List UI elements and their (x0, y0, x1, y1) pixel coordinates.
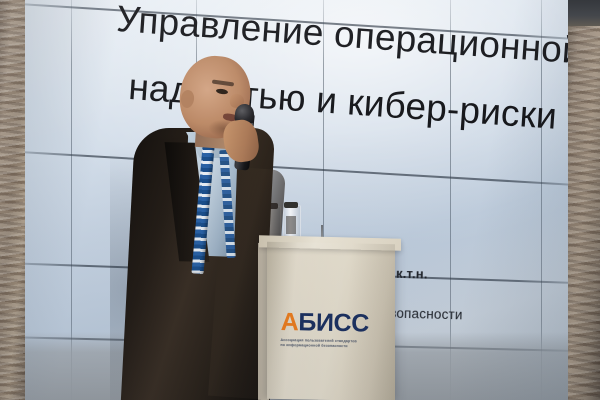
abiss-logo: АБИСС Ассоциация пользователей стандарто… (280, 310, 381, 351)
stone-column-right (568, 0, 600, 400)
stone-column-left (0, 0, 25, 400)
ceiling-corner-dark (568, 0, 600, 26)
abiss-logo-accent-letter: А (281, 308, 299, 336)
abiss-logo-letters: БИСС (298, 308, 369, 337)
abiss-logo-subtitle: Ассоциация пользователей стандартов по и… (280, 338, 380, 351)
abiss-logo-wordmark: АБИСС (281, 310, 381, 337)
presentation-photo: Управление операционной над остью и кибе… (0, 0, 600, 400)
